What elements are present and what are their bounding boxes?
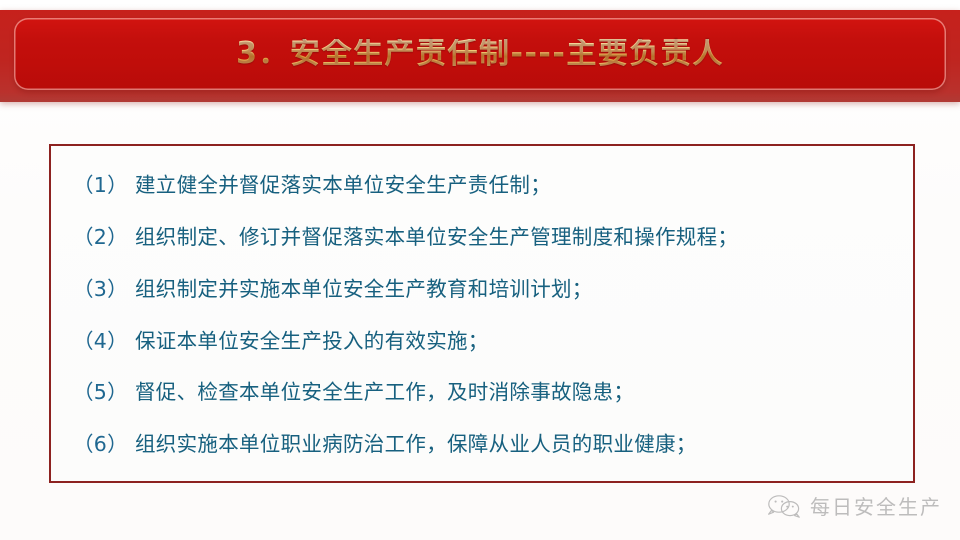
- watermark: 每日安全生产: [767, 491, 942, 520]
- list-item-text: 建立健全并督促落实本单位安全生产责任制；: [135, 173, 891, 199]
- list-item-text: 组织实施本单位职业病防治工作，保障从业人员的职业健康；: [135, 432, 891, 458]
- list-item: （2） 组织制定、修订并督促落实本单位安全生产管理制度和操作规程；: [73, 225, 891, 251]
- list-item-text: 督促、检查本单位安全生产工作，及时消除事故隐患；: [135, 380, 891, 406]
- list-item: （5） 督促、检查本单位安全生产工作，及时消除事故隐患；: [73, 380, 891, 406]
- list-item-text: 组织制定、修订并督促落实本单位安全生产管理制度和操作规程；: [135, 225, 891, 251]
- watermark-text: 每日安全生产: [810, 491, 942, 520]
- list-item-number: （4）: [73, 329, 135, 355]
- list-item-text: 组织制定并实施本单位安全生产教育和培训计划；: [135, 277, 891, 303]
- list-item-number: （3）: [73, 277, 135, 303]
- list-item-text: 保证本单位安全生产投入的有效实施；: [135, 329, 891, 355]
- list-item: （4） 保证本单位安全生产投入的有效实施；: [73, 329, 891, 355]
- list-item: （6） 组织实施本单位职业病防治工作，保障从业人员的职业健康；: [73, 432, 891, 458]
- list-item-number: （5）: [73, 380, 135, 406]
- list-item-number: （6）: [73, 432, 135, 458]
- list-item: （1） 建立健全并督促落实本单位安全生产责任制；: [73, 173, 891, 199]
- slide-canvas: 3．安全生产责任制----主要负责人 （1） 建立健全并督促落实本单位安全生产责…: [0, 0, 960, 540]
- page-title: 3．安全生产责任制----主要负责人: [236, 39, 724, 69]
- list-item: （3） 组织制定并实施本单位安全生产教育和培训计划；: [73, 277, 891, 303]
- list-item-number: （1）: [73, 173, 135, 199]
- title-banner: 3．安全生产责任制----主要负责人: [14, 18, 946, 90]
- wechat-icon: [767, 493, 801, 519]
- list-item-number: （2）: [73, 225, 135, 251]
- content-box: （1） 建立健全并督促落实本单位安全生产责任制； （2） 组织制定、修订并督促落…: [49, 144, 915, 483]
